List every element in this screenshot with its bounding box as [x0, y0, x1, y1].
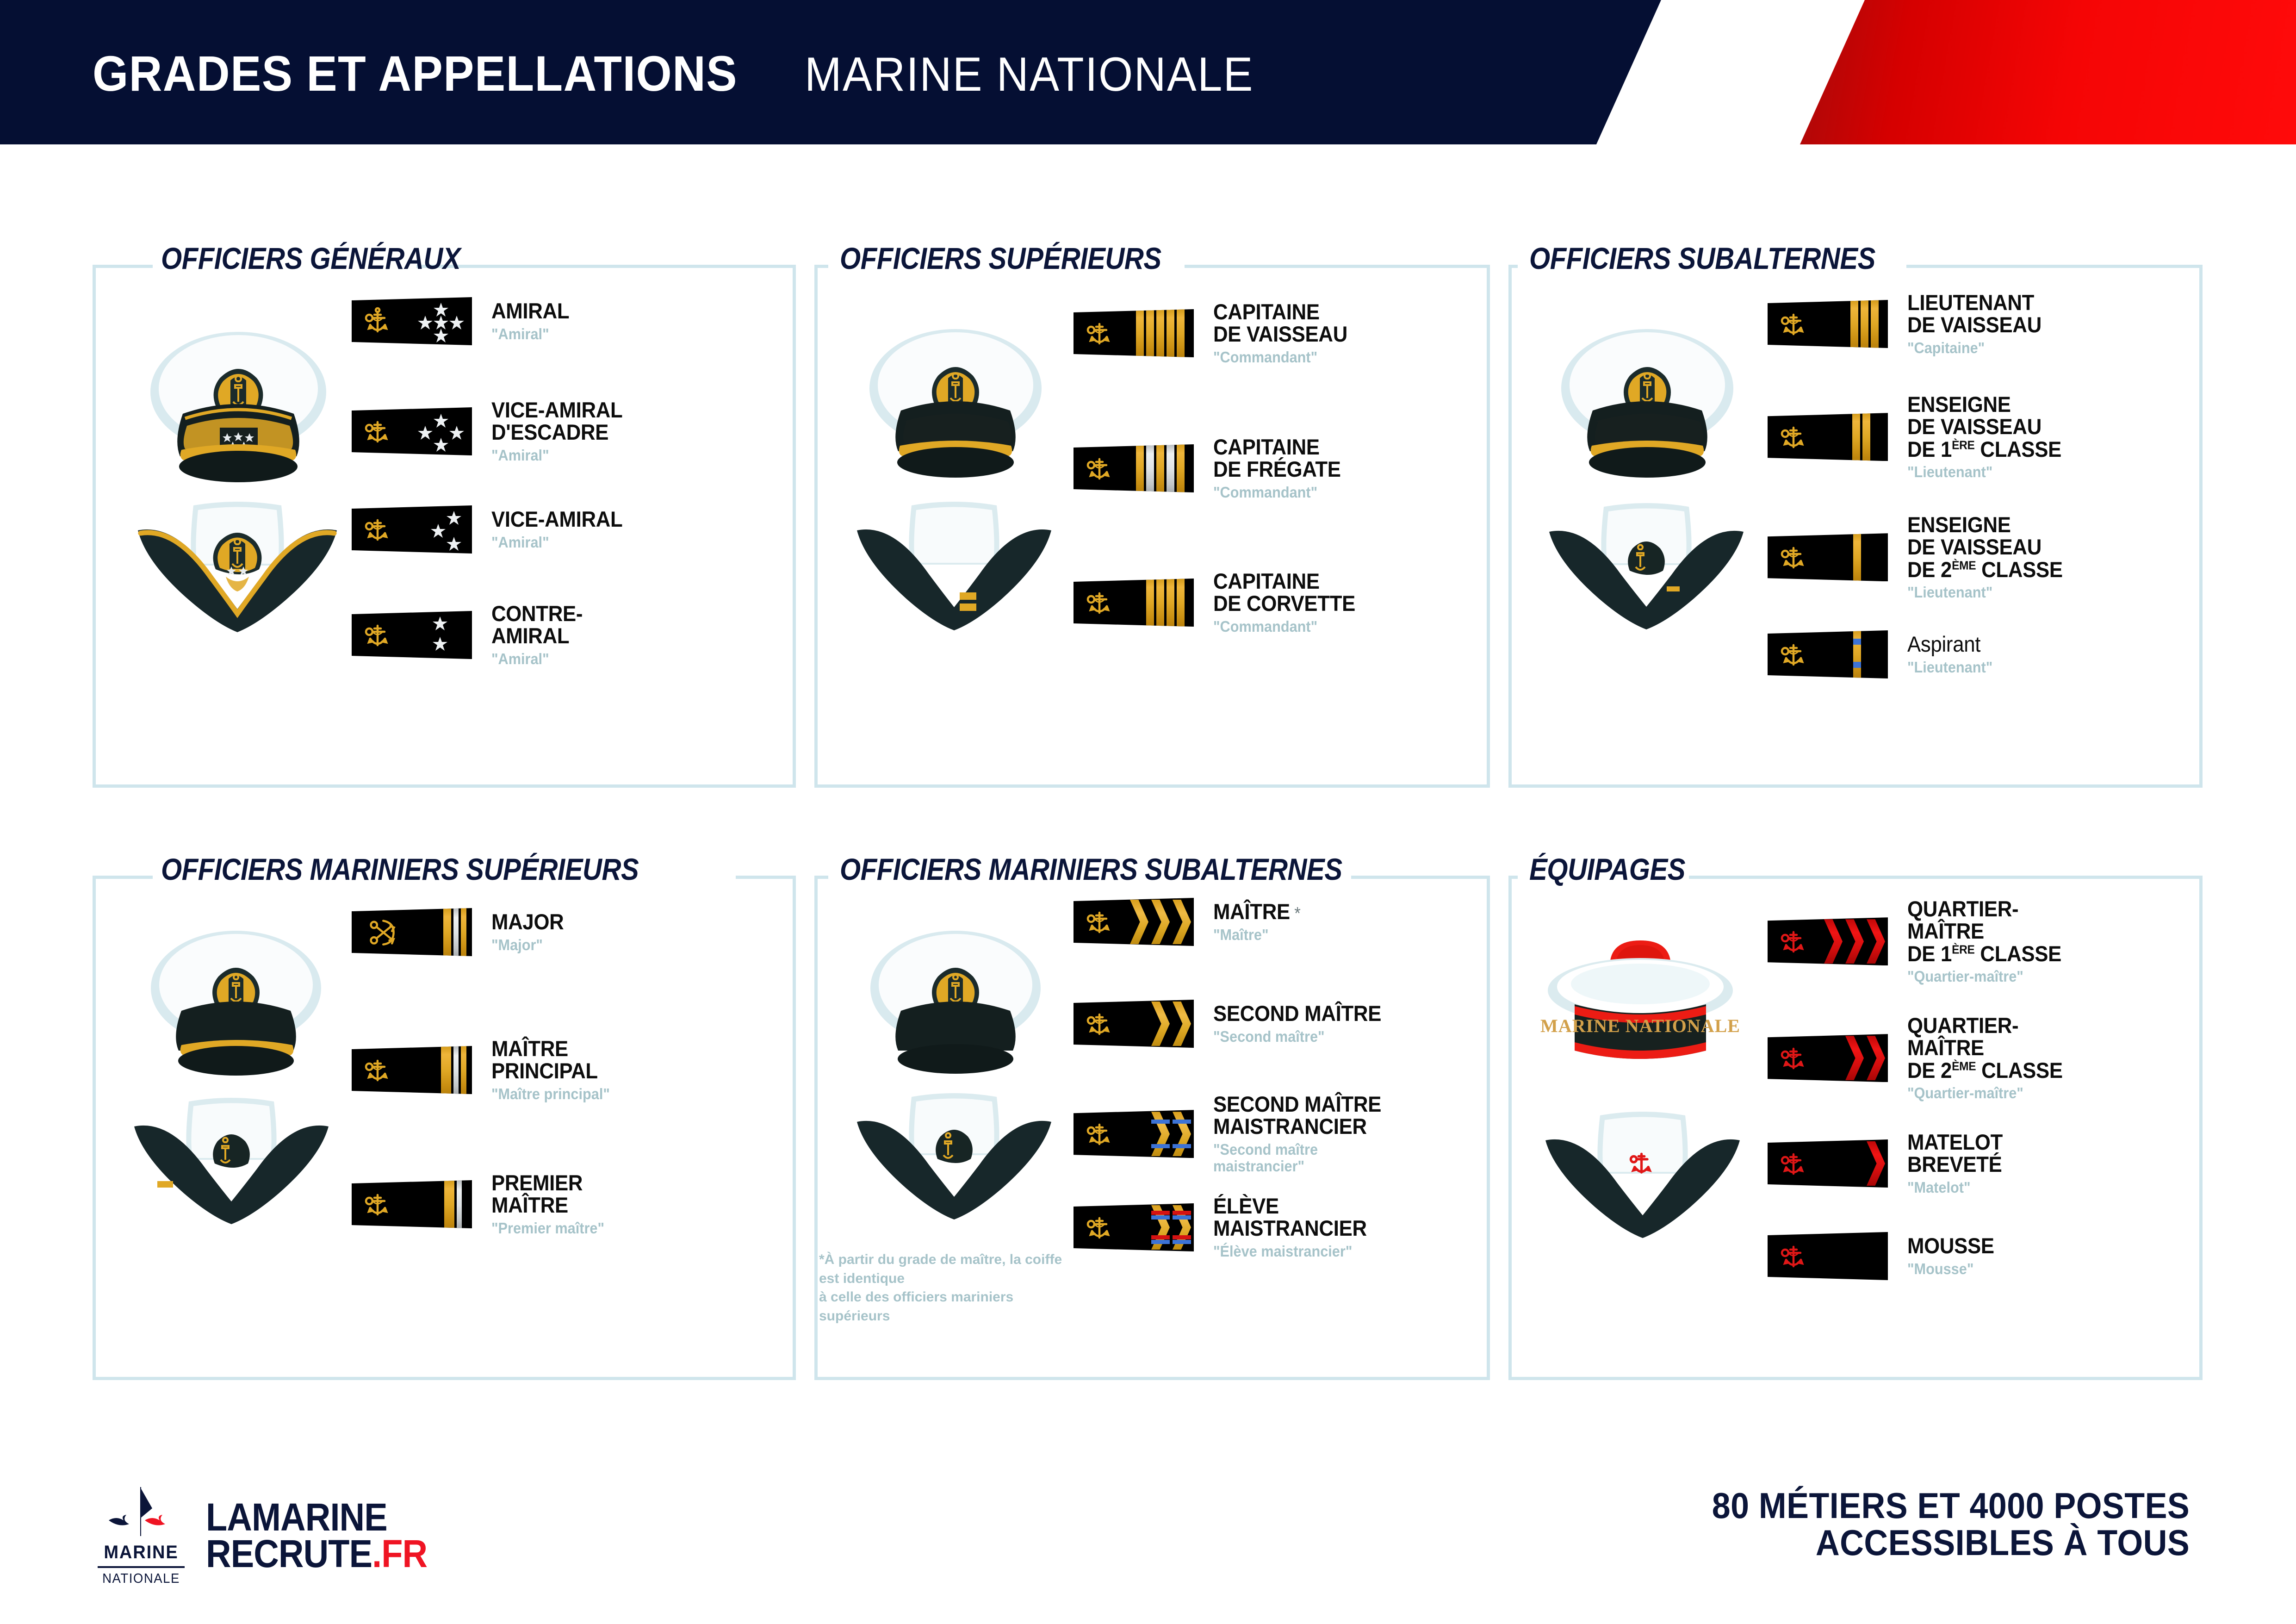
rank-name: Aspirant: [1907, 633, 1992, 655]
rank-chevrons: [1824, 919, 1885, 964]
site-line2: RECRUTE.FR: [206, 1536, 427, 1572]
anchor-icon: [1081, 1007, 1114, 1040]
rank-appellation: "Capitaine": [1907, 340, 2042, 356]
admiral-bicorne-hat: [133, 496, 341, 635]
pos-bicorne-hat: [852, 1089, 1056, 1223]
rank-name-line2: DE VAISSEAU: [1213, 323, 1347, 345]
anchor-icon: [1081, 317, 1114, 350]
rank-appellation: "Maître": [1213, 927, 1301, 943]
rank-label: MAÎTRE * "Maître": [1213, 901, 1307, 943]
section-body: MAJOR "Major" MAÎTRE: [93, 876, 796, 1380]
rank-appellation: "Commandant": [1213, 349, 1347, 366]
rank-name-line3: DE 2ÈME CLASSE: [1907, 1059, 2063, 1082]
rank-chevrons: [1151, 1205, 1191, 1250]
rank-list: AMIRAL "Amiral": [352, 265, 796, 788]
rank-row[interactable]: MATELOT BREVETÉ "Matelot": [1768, 1131, 2010, 1196]
insignia-eleve-maistrancier: [1074, 1203, 1194, 1251]
rank-list: CAPITAINE DE VAISSEAU "Commandant": [1074, 265, 1490, 788]
rank-name-line2: MAÎTRE: [1907, 920, 2061, 942]
blue-band-top: [1173, 1120, 1191, 1124]
rank-name-line2: DE VAISSEAU: [1907, 416, 2061, 438]
rank-row[interactable]: CAPITAINE DE CORVETTE "Commandant": [1074, 570, 1366, 635]
cap-illustrations: [814, 265, 1074, 788]
petty-officer-bicorne-hat: [130, 1093, 333, 1227]
blue-band-bottom: [1173, 1240, 1191, 1244]
marine-nationale-logo-mark: MARINE NATIONALE: [95, 1484, 187, 1587]
blue-band-top: [1151, 1215, 1170, 1220]
rank-appellation: "Premier maître": [491, 1220, 604, 1237]
rank-row[interactable]: VICE-AMIRAL "Amiral": [352, 505, 633, 554]
rank-label: CAPITAINE DE FRÉGATE "Commandant": [1213, 436, 1350, 501]
blue-band-bottom: [1151, 1240, 1170, 1244]
rank-stars: [432, 616, 448, 656]
section-body: CAPITAINE DE VAISSEAU "Commandant": [814, 265, 1490, 788]
rank-name-line2: AMIRAL: [491, 625, 583, 647]
rank-appellation: "Amiral": [491, 534, 622, 551]
rank-name: CAPITAINE: [1213, 436, 1341, 458]
sailor-bicorne-hat: [1541, 1107, 1744, 1241]
rank-appellation: "Amiral": [491, 326, 569, 342]
rank-chevrons: [1845, 1036, 1885, 1080]
rank-name: CAPITAINE: [1213, 301, 1347, 323]
section-body: MARINE NATIONALE: [1508, 876, 2203, 1380]
section-body: AMIRAL "Amiral": [93, 265, 796, 788]
rank-list: MAJOR "Major" MAÎTRE: [352, 876, 796, 1380]
subaltern-peaked-cap: [1550, 309, 1744, 485]
insignia-mousse: [1768, 1232, 1888, 1280]
petty-officer-peaked-cap: [139, 912, 333, 1078]
section-body: *À partir du grade de maître, la coiffe …: [814, 876, 1490, 1380]
insignia-aspirant: [1768, 630, 1888, 678]
page-footer: MARINE NATIONALE LAMARINE RECRUTE.FR 80 …: [0, 1463, 2296, 1624]
red-band-bottom: [1151, 1235, 1170, 1239]
rank-row[interactable]: AMIRAL "Amiral": [352, 297, 575, 345]
rank-appellation: "Commandant": [1213, 618, 1355, 635]
rank-name: ÉLÈVE: [1213, 1195, 1367, 1217]
anchor-icon: [1081, 1211, 1114, 1244]
insignia-vice-amiral-escadre: [352, 407, 472, 455]
rank-row[interactable]: SECOND MAÎTRE "Second maître": [1074, 1000, 1394, 1048]
red-band-top: [1151, 1211, 1170, 1215]
section-equipages: ÉQUIPAGES MARINE NATIONALE: [1508, 876, 2203, 1380]
rank-stripes: [1850, 300, 1879, 348]
rank-appellation: "Amiral": [491, 651, 583, 667]
rank-appellation: "Amiral": [491, 447, 622, 464]
insignia-enseigne-2eme-classe: [1768, 533, 1888, 581]
recruitment-claim: 80 MÉTIERS ET 4000 POSTES ACCESSIBLES À …: [1670, 1487, 2190, 1561]
rank-stripes: [441, 1046, 466, 1094]
marine-recrute-logo[interactable]: MARINE NATIONALE LAMARINE RECRUTE.FR: [95, 1484, 452, 1587]
rank-name-line2: MAISTRANCIER: [1213, 1115, 1381, 1138]
rank-appellation: "Maître principal": [491, 1086, 610, 1102]
rank-name: SECOND MAÎTRE: [1213, 1093, 1381, 1115]
rank-appellation: "Matelot": [1907, 1179, 2003, 1196]
rank-appellation: "Élève maistrancier": [1213, 1243, 1367, 1260]
section-officiers-mariniers-subalternes: OFFICIERS MARINIERS SUBALTERNES: [814, 876, 1490, 1380]
blue-band-top: [1173, 1215, 1191, 1220]
rank-name: VICE-AMIRAL: [491, 508, 622, 530]
anchor-icon: [359, 305, 392, 338]
insignia-second-maitre: [1074, 1000, 1194, 1048]
rank-name-line3: DE 1ÈRE CLASSE: [1907, 943, 2061, 965]
anchor-icon: [1775, 1147, 1808, 1180]
rank-name-line2: DE CORVETTE: [1213, 592, 1355, 615]
insignia-enseigne-1ere-classe: [1768, 413, 1888, 461]
rank-name-line2: PRINCIPAL: [491, 1060, 610, 1082]
header-red-band: [1795, 0, 2296, 144]
rank-row[interactable]: LIEUTENANT DE VAISSEAU "Capitaine": [1768, 292, 2052, 356]
cap-illustrations: *À partir du grade de maître, la coiffe …: [814, 876, 1074, 1380]
rank-stripes: [1136, 309, 1185, 357]
rank-name-line2: DE VAISSEAU: [1907, 314, 2042, 336]
rank-label: ENSEIGNE DE VAISSEAU DE 1ÈRE CLASSE "Lie…: [1907, 393, 2073, 481]
rank-name-line2: MAÎTRE: [1907, 1037, 2063, 1059]
rank-label: ÉLÈVE MAISTRANCIER "Élève maistrancier": [1213, 1195, 1378, 1260]
anchor-icon: [1775, 541, 1808, 574]
rank-label: CAPITAINE DE VAISSEAU "Commandant": [1213, 301, 1358, 366]
rank-label: PREMIER MAÎTRE "Premier maître": [491, 1172, 613, 1237]
rank-appellation: "Second maître": [1213, 1028, 1381, 1045]
anchor-icon: [1775, 925, 1808, 958]
sailor-bachi-cap: MARINE NATIONALE: [1534, 927, 1747, 1089]
insignia-amiral: [352, 297, 472, 345]
rank-label: CAPITAINE DE CORVETTE "Commandant": [1213, 570, 1366, 635]
rank-row[interactable]: CAPITAINE DE VAISSEAU "Commandant": [1074, 301, 1358, 366]
ranks-board: OFFICIERS GÉNÉRAUX: [0, 144, 2296, 1463]
rank-chevrons: [1151, 1112, 1191, 1156]
cap-illustrations: [93, 265, 352, 788]
rank-name: QUARTIER-: [1907, 1014, 2063, 1037]
insignia-quartier-maitre-2eme: [1768, 1034, 1888, 1082]
insignia-major: [352, 908, 472, 956]
rank-name: MAÎTRE: [491, 1038, 610, 1060]
rank-label: MOUSSE "Mousse": [1907, 1235, 2001, 1277]
rank-label: MAÎTRE PRINCIPAL "Maître principal": [491, 1038, 619, 1102]
section-officiers-subalternes: OFFICIERS SUBALTERNES: [1508, 265, 2203, 788]
subaltern-bicorne-hat: [1545, 498, 1748, 633]
insignia-quartier-maitre-1ere: [1768, 917, 1888, 965]
crossed-anchor-icon: [364, 914, 401, 951]
logo-rule: [98, 1566, 185, 1568]
claim-line2: ACCESSIBLES À TOUS: [1712, 1524, 2190, 1562]
rank-label: QUARTIER- MAÎTRE DE 2ÈME CLASSE "Quartie…: [1907, 1014, 2074, 1102]
page-header: GRADES ET APPELLATIONS MARINE NATIONALE: [0, 0, 2296, 144]
rank-row[interactable]: CAPITAINE DE FRÉGATE "Commandant": [1074, 436, 1350, 501]
rank-stripes: [443, 908, 466, 956]
rank-row[interactable]: QUARTIER- MAÎTRE DE 2ÈME CLASSE "Quartie…: [1768, 1014, 2074, 1102]
rank-name-line2: DE VAISSEAU: [1907, 536, 2063, 558]
section-officiers-mariniers-superieurs: OFFICIERS MARINIERS SUPÉRIEURS: [93, 876, 796, 1380]
rank-chevrons: [1151, 1002, 1191, 1046]
rank-label: MATELOT BREVETÉ "Matelot": [1907, 1131, 2010, 1196]
rank-label: SECOND MAÎTRE "Second maître": [1213, 1002, 1394, 1045]
insignia-second-maitre-maistrancier: [1074, 1110, 1194, 1158]
insignia-vice-amiral: [352, 505, 472, 554]
insignia-maitre-principal: [352, 1046, 472, 1094]
rank-label: Aspirant "Lieutenant": [1907, 633, 1999, 676]
rank-label: VICE-AMIRAL "Amiral": [491, 508, 633, 551]
rank-appellation: "Quartier-maître": [1907, 1085, 2063, 1101]
anchor-icon: [1775, 638, 1808, 671]
site-line1: LAMARINE: [206, 1499, 427, 1535]
section-officiers-generaux: OFFICIERS GÉNÉRAUX: [93, 265, 796, 788]
blue-cross-band-bottom: [1853, 662, 1861, 668]
anchor-icon: [1775, 307, 1808, 341]
section-footnote: *À partir du grade de maître, la coiffe …: [819, 1251, 1074, 1325]
rank-row[interactable]: VICE-AMIRAL D'ESCADRE "Amiral": [352, 399, 633, 464]
rank-label: QUARTIER- MAÎTRE DE 1ÈRE CLASSE "Quartie…: [1907, 898, 2073, 985]
page-title-light: MARINE NATIONALE: [805, 47, 1254, 102]
rank-name: ENSEIGNE: [1907, 393, 2061, 416]
cap-illustrations: [93, 876, 352, 1380]
anchor-icon: [359, 1053, 392, 1087]
page-title: GRADES ET APPELLATIONS MARINE NATIONALE: [93, 44, 1293, 102]
rank-name: MOUSSE: [1907, 1235, 1994, 1257]
insignia-contre-amiral: [352, 611, 472, 659]
anchor-icon: [359, 618, 392, 652]
rank-name: MAJOR: [491, 911, 564, 933]
rank-name: VICE-AMIRAL: [491, 399, 622, 421]
rank-name: AMIRAL: [491, 300, 569, 322]
rank-name: QUARTIER-: [1907, 898, 2061, 920]
cap-illustrations: [1508, 265, 1768, 788]
anchor-icon: [359, 513, 392, 546]
anchor-icon: [1081, 905, 1114, 939]
rank-row[interactable]: MAÎTRE * "Maître": [1074, 898, 1307, 946]
rank-label: MAJOR "Major": [491, 911, 569, 953]
cap-illustrations: MARINE NATIONALE: [1508, 876, 1768, 1380]
site-url[interactable]: LAMARINE RECRUTE.FR: [206, 1499, 452, 1571]
rank-row[interactable]: MAÎTRE PRINCIPAL "Maître principal": [352, 1038, 619, 1102]
insignia-matelot-brevete: [1768, 1139, 1888, 1188]
insignia-maitre: [1074, 898, 1194, 946]
rank-row[interactable]: SECOND MAÎTRE MAISTRANCIER "Second maîtr…: [1074, 1093, 1394, 1175]
rank-label: SECOND MAÎTRE MAISTRANCIER "Second maîtr…: [1213, 1093, 1394, 1175]
bachi-band-text: MARINE NATIONALE: [1540, 1015, 1740, 1036]
pos-peaked-cap: [858, 912, 1053, 1078]
page-title-bold: GRADES ET APPELLATIONS: [93, 44, 738, 102]
rank-stripes: [1853, 630, 1861, 678]
rank-name: CONTRE-: [491, 603, 583, 625]
anchor-icon: [359, 1188, 392, 1221]
rank-name: PREMIER: [491, 1172, 604, 1194]
anchor-icon: [1081, 586, 1114, 619]
rank-label: LIEUTENANT DE VAISSEAU "Capitaine": [1907, 292, 2052, 356]
rank-name-line3: DE 1ÈRE CLASSE: [1907, 438, 2061, 460]
rank-name-line2: MAISTRANCIER: [1213, 1217, 1367, 1239]
rank-row[interactable]: MAJOR "Major": [352, 908, 569, 956]
rank-stars: [430, 510, 462, 549]
rank-chevrons: [1130, 900, 1191, 944]
rank-stars: [417, 302, 465, 341]
rank-stripes: [1852, 413, 1870, 461]
rank-stripes: [1146, 579, 1185, 627]
officer-bicorne-hat: [852, 496, 1056, 635]
sail-flag-icon: [95, 1484, 187, 1542]
rank-appellation: "Lieutenant": [1907, 659, 1992, 676]
rank-name-line2: BREVETÉ: [1907, 1153, 2003, 1176]
rank-label: ENSEIGNE DE VAISSEAU DE 2ÈME CLASSE "Lie…: [1907, 514, 2074, 601]
rank-row[interactable]: PREMIER MAÎTRE "Premier maître": [352, 1172, 613, 1237]
section-officiers-superieurs: OFFICIERS SUPÉRIEURS: [814, 265, 1490, 788]
rank-label: CONTRE- AMIRAL "Amiral": [491, 603, 590, 667]
anchor-icon: [359, 415, 392, 448]
rank-row[interactable]: CONTRE- AMIRAL "Amiral": [352, 603, 590, 667]
rank-label: AMIRAL "Amiral": [491, 300, 575, 342]
logo-nationale-text: NATIONALE: [97, 1571, 185, 1587]
rank-name: ENSEIGNE: [1907, 514, 2063, 536]
rank-appellation: "Commandant": [1213, 484, 1341, 501]
section-body: LIEUTENANT DE VAISSEAU "Capitaine": [1508, 265, 2203, 788]
blue-band-top: [1151, 1120, 1170, 1124]
rank-list: LIEUTENANT DE VAISSEAU "Capitaine": [1768, 265, 2203, 788]
rank-appellation: "Lieutenant": [1907, 464, 2061, 480]
rank-stripes: [444, 1180, 462, 1228]
rank-appellation: "Lieutenant": [1907, 584, 2063, 601]
rank-row[interactable]: ENSEIGNE DE VAISSEAU DE 1ÈRE CLASSE "Lie…: [1768, 393, 2073, 481]
rank-label: VICE-AMIRAL D'ESCADRE "Amiral": [491, 399, 633, 464]
rank-list: QUARTIER- MAÎTRE DE 1ÈRE CLASSE "Quartie…: [1768, 876, 2203, 1380]
anchor-icon: [1775, 1041, 1808, 1075]
red-band-top: [1173, 1211, 1191, 1215]
insignia-capitaine-de-corvette: [1074, 579, 1194, 627]
rank-chevrons: [1867, 1141, 1885, 1186]
rank-stripes: [1136, 444, 1185, 492]
rank-stars: [417, 413, 465, 449]
blue-cross-band-top: [1853, 639, 1861, 645]
rank-row[interactable]: QUARTIER- MAÎTRE DE 1ÈRE CLASSE "Quartie…: [1768, 898, 2073, 985]
blue-band-bottom: [1173, 1144, 1191, 1148]
blue-band-bottom: [1151, 1144, 1170, 1148]
rank-row[interactable]: MOUSSE "Mousse": [1768, 1232, 2001, 1280]
rank-name: LIEUTENANT: [1907, 292, 2042, 314]
red-band-bottom: [1173, 1235, 1191, 1239]
officer-peaked-cap: [858, 309, 1053, 485]
rank-name-line2: DE FRÉGATE: [1213, 458, 1341, 480]
rank-list: MAÎTRE * "Maître": [1074, 876, 1490, 1380]
rank-appellation: "Second maître maistrancier": [1213, 1141, 1381, 1175]
rank-name-line3: DE 2ÈME CLASSE: [1907, 559, 2063, 581]
anchor-icon: [1081, 452, 1114, 485]
rank-row[interactable]: Aspirant "Lieutenant": [1768, 630, 1999, 678]
logo-marine-text: MARINE: [97, 1542, 185, 1563]
rank-appellation: "Quartier-maître": [1907, 968, 2061, 985]
rank-name-line2: MAÎTRE: [491, 1194, 604, 1216]
rank-name: MATELOT: [1907, 1131, 2003, 1153]
insignia-capitaine-de-fregate: [1074, 444, 1194, 492]
rank-name: CAPITAINE: [1213, 570, 1355, 592]
rank-appellation: "Major": [491, 937, 564, 953]
anchor-icon: [1775, 420, 1808, 454]
claim-line1: 80 MÉTIERS ET 4000 POSTES: [1712, 1487, 2190, 1524]
insignia-capitaine-de-vaisseau: [1074, 309, 1194, 357]
anchor-icon: [1081, 1117, 1114, 1151]
rank-name: MAÎTRE *: [1213, 901, 1301, 923]
rank-row[interactable]: ENSEIGNE DE VAISSEAU DE 2ÈME CLASSE "Lie…: [1768, 514, 2074, 601]
rank-name-line2: D'ESCADRE: [491, 421, 622, 443]
rank-stripes: [1853, 533, 1861, 581]
rank-appellation: "Mousse": [1907, 1261, 1994, 1277]
insignia-lieutenant-de-vaisseau: [1768, 300, 1888, 348]
rank-name: SECOND MAÎTRE: [1213, 1002, 1381, 1025]
anchor-icon: [1775, 1239, 1808, 1273]
admiral-peaked-cap: [139, 311, 338, 487]
insignia-premier-maitre: [352, 1180, 472, 1228]
rank-row[interactable]: ÉLÈVE MAISTRANCIER "Élève maistrancier": [1074, 1195, 1378, 1260]
